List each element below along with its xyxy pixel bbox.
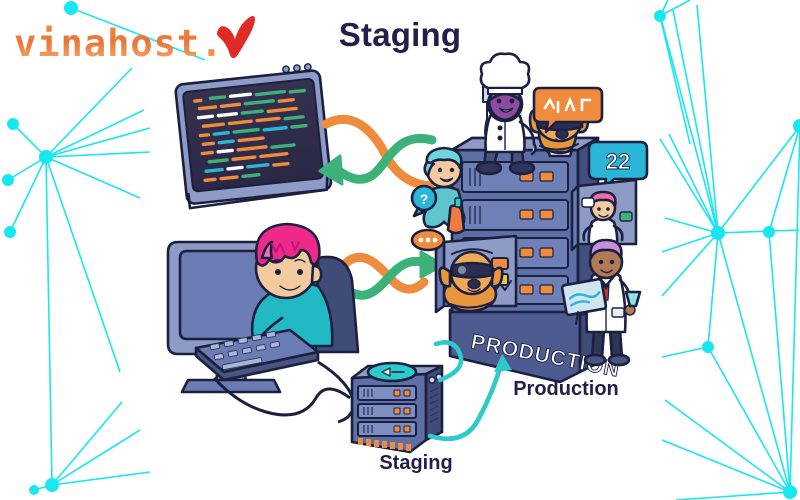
production-label: Production [456, 378, 676, 401]
typing-bubble [412, 230, 444, 250]
illustration-canvas: .o { stroke:#1c2040; stroke-width:2.6; s… [0, 0, 800, 500]
page-title: Staging [0, 16, 800, 54]
question-bubble-text: ? [420, 191, 429, 207]
code-monitor [174, 63, 332, 209]
staging-label: Staging [316, 452, 516, 475]
scene-illustration: .o { stroke:#1c2040; stroke-width:2.6; s… [0, 0, 800, 500]
count-bubble-text: 22 [606, 149, 630, 174]
staging-server [352, 363, 442, 452]
